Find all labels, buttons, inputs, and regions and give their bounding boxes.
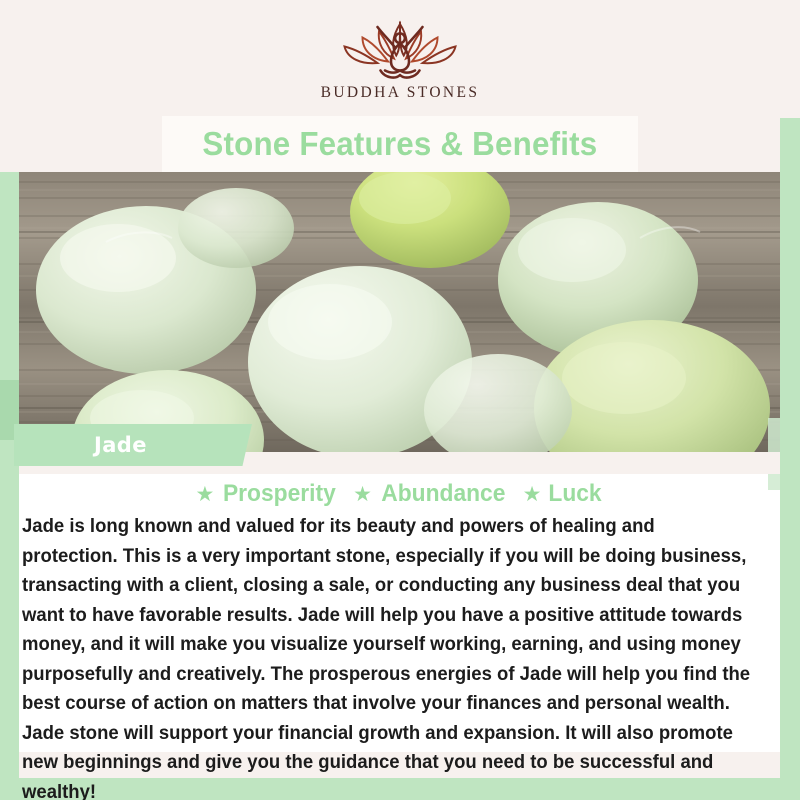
benefit-item-prosperity: ★ Prosperity [196, 480, 340, 508]
brand-header: BUDDHA STONES [0, 0, 800, 118]
star-icon: ★ [353, 484, 372, 505]
stone-info-poster: BUDDHA STONES [0, 0, 800, 800]
decorative-frame-left [0, 172, 19, 800]
star-icon: ★ [196, 484, 215, 505]
benefit-item-abundance: ★ Abundance [353, 480, 509, 508]
benefit-label: Abundance [381, 480, 505, 508]
star-icon: ★ [523, 484, 542, 505]
benefit-label: Luck [549, 480, 602, 508]
lotus-meditation-icon [325, 18, 475, 80]
title-band: Stone Features & Benefits [162, 116, 638, 172]
benefits-row: ★ Prosperity ★ Abundance ★ Luck [19, 478, 780, 510]
benefit-item-luck: ★ Luck [523, 480, 604, 508]
stone-name: Jade [94, 433, 147, 457]
stone-name-banner: Jade [14, 424, 252, 466]
decorative-frame-right [780, 0, 800, 800]
benefit-label: Prosperity [223, 480, 336, 508]
stone-description: Jade is long known and valued for its be… [22, 512, 753, 800]
brand-name: BUDDHA STONES [321, 84, 480, 102]
jade-stones-photo [0, 172, 780, 452]
page-title: Stone Features & Benefits [203, 125, 598, 163]
